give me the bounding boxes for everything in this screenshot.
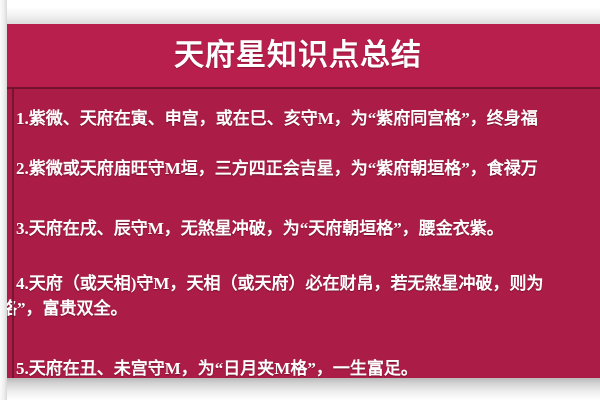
left-edge-gradient	[0, 0, 7, 400]
slide: 天府星知识点总结 1.紫微、天府在寅、申宫，或在巳、亥守M，为“紫府同宫格”，终…	[0, 0, 600, 400]
list-item-line: 格”，富贵双全。	[0, 296, 600, 321]
list-item: 4.天府（或天相)守M，天相（或天府）必在财帛，若无煞星冲破，则为 格”，富贵双…	[16, 271, 600, 321]
list-item: 5.天府在丑、未宫守M，为“日月夹M格”，一生富足。	[16, 356, 418, 378]
title-banner: 天府星知识点总结	[0, 24, 600, 88]
list-item: 3.天府在戌、辰守M，无煞星冲破，为“天府朝垣格”，腰金衣紫。	[16, 216, 504, 241]
list-item: 1.紫微、天府在寅、申宫，或在巳、亥守M，为“紫府同宫格”，终身福	[16, 106, 538, 131]
bottom-edge-gradient	[0, 378, 600, 400]
top-edge-gradient	[0, 0, 600, 24]
page-title: 天府星知识点总结	[174, 41, 422, 71]
body-area: 1.紫微、天府在寅、申宫，或在巳、亥守M，为“紫府同宫格”，终身福 2.紫微或天…	[0, 89, 600, 378]
list-item: 2.紫微或天府庙旺守M垣，三方四正会吉星，为“紫府朝垣格”，食禄万	[16, 156, 538, 181]
list-item-line: 4.天府（或天相)守M，天相（或天府）必在财帛，若无煞星冲破，则为	[16, 271, 600, 296]
banner-divider	[0, 87, 600, 89]
left-vertical-rule	[12, 89, 14, 378]
